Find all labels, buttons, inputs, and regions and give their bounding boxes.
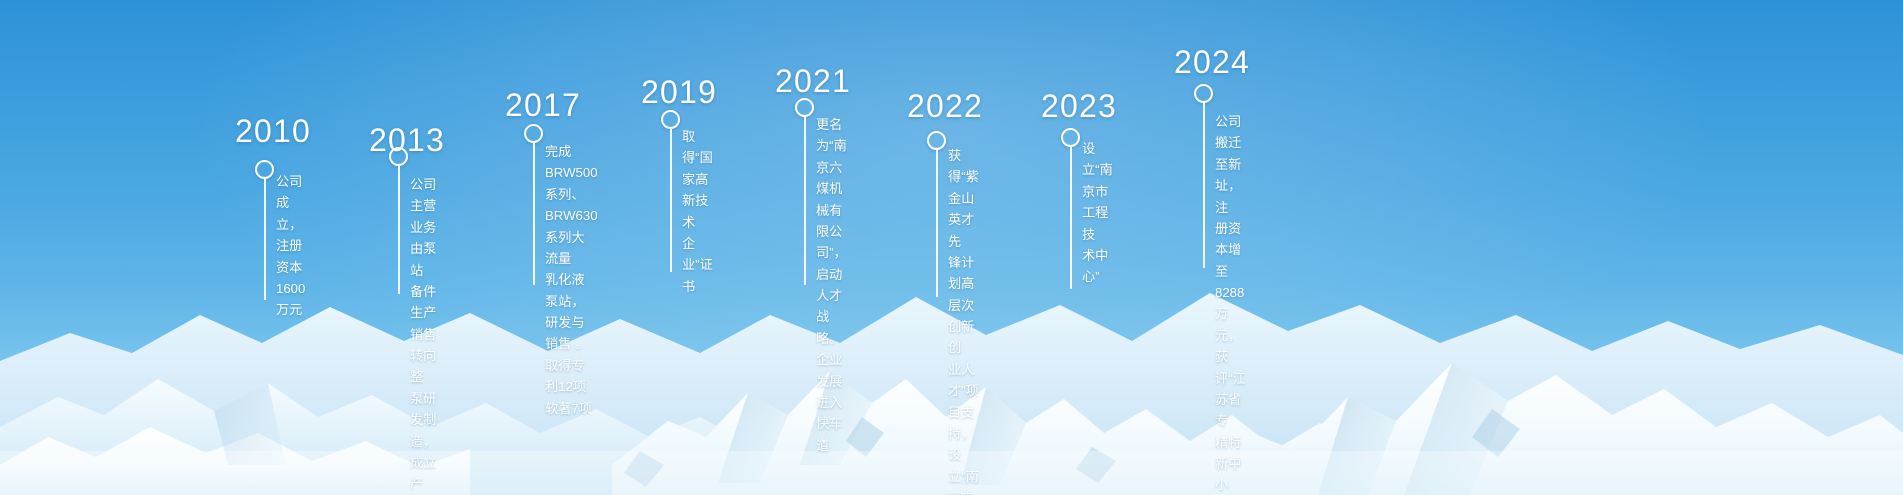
milestone-description-2021: 更名为“南京六煤机 械有限公司”，启动 人才战略。企业发展 进入快车道	[816, 114, 847, 456]
milestone-description-2024: 公司搬迁至新址，注 册资本增至8288万 元，获评“江苏省专 精特新中小 企业”	[1215, 111, 1246, 495]
milestone-description-2010: 公司成立，注册资本 1600万元	[276, 171, 305, 321]
milestone-year-2022: 2022	[907, 88, 983, 125]
timeline-dot-2022[interactable]	[927, 131, 946, 150]
milestone-year-2021: 2021	[775, 63, 851, 100]
timeline-dot-2019[interactable]	[661, 110, 680, 129]
timeline-connector-2017	[533, 143, 535, 285]
timeline-dot-2021[interactable]	[795, 98, 814, 117]
timeline-dot-2024[interactable]	[1194, 84, 1213, 103]
timeline-dot-2017[interactable]	[524, 124, 543, 143]
milestone-description-2023: 设立“南京市工程技 术中心”	[1082, 138, 1113, 288]
milestone-year-2010: 2010	[235, 113, 311, 150]
timeline-connector-2022	[936, 150, 938, 297]
timeline-connector-2023	[1070, 147, 1072, 289]
milestone-description-2022: 获得“紫金山英才先 锋计划高层次创新创 业人才”项目支持， 设立“南京市企业专 …	[948, 145, 979, 495]
timeline-connector-2021	[804, 117, 806, 285]
milestone-description-2017: 完成BRW500系列、 BRW630系列大流量 乳化液泵站，研发与 销售 。取得…	[545, 141, 598, 419]
milestone-year-2017: 2017	[505, 87, 581, 124]
timeline-dot-2013[interactable]	[389, 147, 408, 166]
timeline-dot-2010[interactable]	[255, 160, 274, 179]
timeline-connector-2013	[398, 166, 400, 294]
milestone-description-2013: 公司主营业务由泵站 备件生产销售转向整 泵研发制造，成立产 品研发中心.公司注册…	[410, 174, 439, 495]
milestone-description-2019: 取得“国家高新技术 企业”证书	[682, 126, 713, 297]
timeline-connector-2019	[670, 129, 672, 272]
milestone-year-2024: 2024	[1174, 44, 1250, 81]
timeline-dot-2023[interactable]	[1061, 128, 1080, 147]
timeline-connector-2024	[1203, 103, 1205, 268]
timeline-connector-2010	[264, 179, 266, 300]
milestone-year-2019: 2019	[641, 74, 717, 111]
infographic-canvas: 2010 公司成立，注册资本 1600万元 2013 公司主营业务由泵站 备件生…	[0, 0, 1903, 495]
timeline: 2010 公司成立，注册资本 1600万元 2013 公司主营业务由泵站 备件生…	[0, 0, 1903, 495]
milestone-year-2023: 2023	[1041, 88, 1117, 125]
